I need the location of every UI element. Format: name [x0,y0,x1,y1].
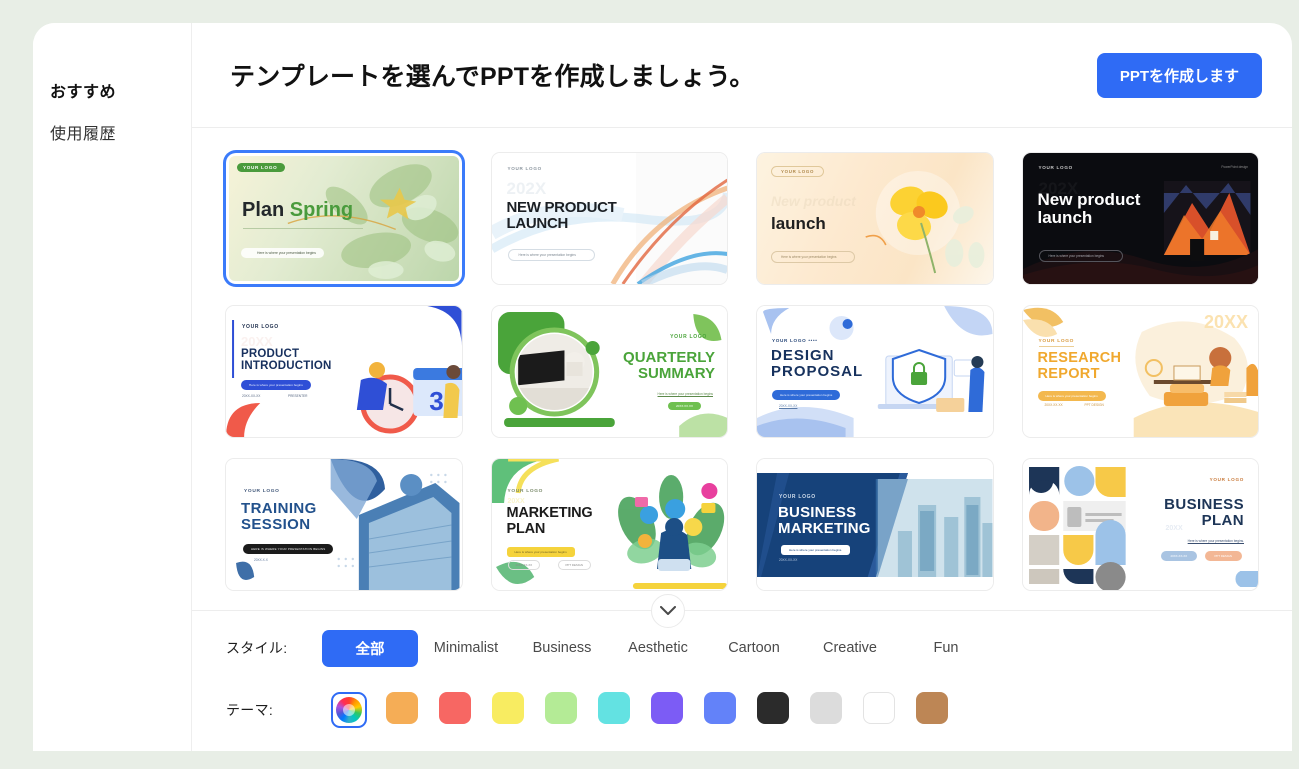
thumb-rule [243,228,363,229]
page-title: テンプレートを選んでPPTを作成しましょう。 [230,57,1097,93]
svg-text:3: 3 [429,386,444,416]
theme-filter-row: テーマ: [226,691,1258,729]
thumb-logo: YOUR LOGO [237,163,285,172]
thumb-subtitle: Here is where your presentation begins [508,249,595,261]
style-chip-cartoon[interactable]: Cartoon [706,632,802,664]
thumb-logo: YOUR LOGO [1039,165,1073,170]
template-card-design-proposal[interactable]: YOUR LOGO •••• DESIGNPROPOSAL Here is wh… [757,306,993,437]
template-card-plan-spring[interactable]: YOUR LOGO Plan Spring Here is where your… [226,153,462,284]
template-thumbnail: YOUR LOGO •••• DESIGNPROPOSAL Here is wh… [757,306,993,437]
template-grid-area: YOUR LOGO Plan Spring Here is where your… [192,128,1292,610]
thumb-meta-date: 20XX.XX.XX [668,402,701,410]
theme-swatch-red[interactable] [428,692,481,728]
thumb-logo: YOUR LOGO [508,489,544,494]
thumb-title: MARKETINGPLAN [507,506,593,537]
thumb-title: QUARTERLYSUMMARY [623,350,715,382]
theme-swatch-light-green[interactable] [534,692,587,728]
thumb-meta-date: 20XX-XX-XX [779,558,797,562]
thumb-title: launch [771,215,826,233]
thumb-title: DESIGNPROPOSAL [771,348,863,380]
template-card-quarterly-summary[interactable]: YOUR LOGO QUARTERLYSUMMARY Here is where… [492,306,728,437]
thumb-logo: YOUR LOGO [771,166,824,177]
template-card-new-product-launch-wave[interactable]: YOUR LOGO 202X NEW PRODUCTLAUNCH Here is… [492,153,728,284]
template-thumbnail: YOUR LOGO BUSINESSPLAN 20XX Here is wher… [1023,459,1259,590]
template-thumbnail: 3 YOUR LOGO 20XX PRODUCTINTRODUCTION Her… [226,306,462,437]
thumb-year: 202X [507,179,547,199]
template-card-research-report[interactable]: 20XX YOUR LOGO RESEARCHREPORT Here is wh… [1023,306,1259,437]
thumb-logo: YOUR LOGO •••• [772,338,818,343]
theme-swatch-orange[interactable] [375,692,428,728]
style-chip-aesthetic[interactable]: Aesthetic [610,632,706,664]
thumb-subtitle: Here is where your presentation begins [241,248,324,258]
style-chip-creative[interactable]: Creative [802,632,898,664]
thumb-year: 20XX [1204,312,1248,333]
thumb-meta-author: PRESENTER [288,394,307,398]
style-chip-all[interactable]: 全部 [322,630,418,667]
thumb-subtitle: Here is where your presentation begins [658,392,713,396]
thumb-meta-author: PPT DESIGN [1205,551,1242,561]
style-chip-fun[interactable]: Fun [898,632,994,664]
thumb-title: New productlaunch [1038,191,1141,228]
selection-ring [331,692,367,728]
theme-swatch-light-gray[interactable] [799,692,852,728]
template-card-new-product-launch-flower[interactable]: YOUR LOGO New product launch Here is whe… [757,153,993,284]
thumb-title: RESEARCHREPORT [1038,351,1122,382]
thumb-title-ghost: New product [771,193,856,209]
template-card-business-plan[interactable]: YOUR LOGO BUSINESSPLAN 20XX Here is wher… [1023,459,1259,590]
thumb-meta-author: PPT DESIGN [1085,403,1104,407]
thumb-title: TRAININGSESSION [241,501,317,533]
template-card-product-introduction[interactable]: 3 YOUR LOGO 20XX PRODUCTINTRODUCTION Her… [226,306,462,437]
theme-swatch-yellow[interactable] [481,692,534,728]
template-thumbnail: YOUR LOGO PowerPoint design 202X New pro… [1023,153,1259,284]
filter-footer: スタイル: 全部 Minimalist Business Aesthetic C… [192,610,1292,751]
template-thumbnail: YOUR LOGO TRAININGSESSION HERE IS WHERE … [226,459,462,590]
template-thumbnail: 20XX YOUR LOGO RESEARCHREPORT Here is wh… [1023,306,1259,437]
chevron-down-icon [660,606,676,616]
theme-swatch-cyan[interactable] [587,692,640,728]
theme-swatches [322,692,958,728]
thumb-subtitle: Here is where your presentation begins [771,251,855,263]
template-card-marketing-plan[interactable]: YOUR LOGO 20XX MARKETINGPLAN Here is whe… [492,459,728,590]
thumb-title: PRODUCTINTRODUCTION [241,348,332,373]
theme-swatch-white[interactable] [852,692,905,728]
theme-swatch-purple[interactable] [640,692,693,728]
sidebar-item-label: 使用履歴 [50,126,116,143]
thumb-logo: YOUR LOGO [779,494,816,500]
style-filter-row: スタイル: 全部 Minimalist Business Aesthetic C… [226,629,1258,667]
template-thumbnail: YOUR LOGO BUSINESSMARKETING Here is wher… [757,459,993,590]
thumb-subtitle: Here is where your presentation begins. [1188,539,1244,543]
thumb-subtitle: Here is where your presentation begins [1039,250,1123,262]
thumb-logo: YOUR LOGO [244,489,280,494]
thumb-meta-date: 20XX.X.X [254,558,268,562]
sidebar-item-label: おすすめ [50,84,116,101]
theme-swatch-black[interactable] [746,692,799,728]
template-card-new-product-launch-dark[interactable]: YOUR LOGO PowerPoint design 202X New pro… [1023,153,1259,284]
template-card-business-marketing[interactable]: YOUR LOGO BUSINESSMARKETING Here is wher… [757,459,993,590]
thumb-meta-date: 20XX-XX-XX [242,394,260,398]
thumb-title: Plan Spring [242,200,353,222]
thumb-meta-author: PPT DESIGN [558,560,591,570]
theme-swatch-brown[interactable] [905,692,958,728]
theme-swatch-color-wheel[interactable] [322,692,375,728]
sidebar-item-recommended[interactable]: おすすめ [33,69,191,111]
sidebar: おすすめ 使用履歴 [33,23,192,751]
header-bar: テンプレートを選んでPPTを作成しましょう。 PPTを作成します [192,23,1292,128]
template-thumbnail: YOUR LOGO 202X NEW PRODUCTLAUNCH Here is… [492,153,728,284]
thumb-subtitle: Here is where your presentation begins. [781,545,850,555]
thumb-logo: YOUR LOGO [242,324,279,330]
thumb-subtitle: HERE IS WHERE YOUR PRESENTATION BEGINS [243,544,333,554]
theme-filter-label: テーマ: [226,700,322,720]
style-chip-minimalist[interactable]: Minimalist [418,632,514,664]
thumb-title: NEW PRODUCTLAUNCH [507,200,617,232]
thumb-subtitle: Here is where your presentation begins [1038,391,1106,401]
thumb-meta-date: 20XX-XX-XX [508,560,541,570]
template-thumbnail: YOUR LOGO New product launch Here is whe… [757,153,993,284]
template-card-training-session[interactable]: YOUR LOGO TRAININGSESSION HERE IS WHERE … [226,459,462,590]
template-grid: YOUR LOGO Plan Spring Here is where your… [226,153,1258,590]
thumb-logo: YOUR LOGO [670,334,707,340]
sidebar-item-history[interactable]: 使用履歴 [33,111,191,153]
thumb-year: 20XX [508,498,525,505]
thumb-year: 20XX [241,334,273,349]
thumb-subtitle: Here is where your presentation begins [241,380,311,390]
thumb-logo: YOUR LOGO [1039,339,1075,347]
thumb-meta-date: 20XX-XX-XX [1161,551,1198,561]
color-wheel-icon [336,697,362,723]
thumb-subtitle: Here is where your presentation begins [772,390,840,400]
style-chip-business[interactable]: Business [514,632,610,664]
thumb-logo: YOUR LOGO [1210,477,1244,482]
thumb-meta-date: 20XX.XX.XX [1045,403,1063,407]
style-filter-label: スタイル: [226,638,322,658]
thumb-title: BUSINESSMARKETING [778,505,871,537]
template-thumbnail: YOUR LOGO 20XX MARKETINGPLAN Here is whe… [492,459,728,590]
thumb-year: 20XX [1166,525,1183,532]
main-content: テンプレートを選んでPPTを作成しましょう。 PPTを作成します [192,23,1292,751]
template-thumbnail: YOUR LOGO Plan Spring Here is where your… [229,156,459,281]
thumb-logo: YOUR LOGO [508,166,542,171]
app-window: おすすめ 使用履歴 テンプレートを選んでPPTを作成しましょう。 PPTを作成し… [33,23,1292,751]
template-thumbnail: YOUR LOGO QUARTERLYSUMMARY Here is where… [492,306,728,437]
thumb-meta-date: 20XX-XX-XX [779,404,797,408]
thumb-subtitle: Here is where your presentation begins [507,547,575,557]
thumb-nav: PowerPoint design [1221,165,1248,169]
theme-swatch-blue[interactable] [693,692,746,728]
expand-templates-button[interactable] [651,594,685,628]
create-ppt-button[interactable]: PPTを作成します [1097,53,1262,98]
